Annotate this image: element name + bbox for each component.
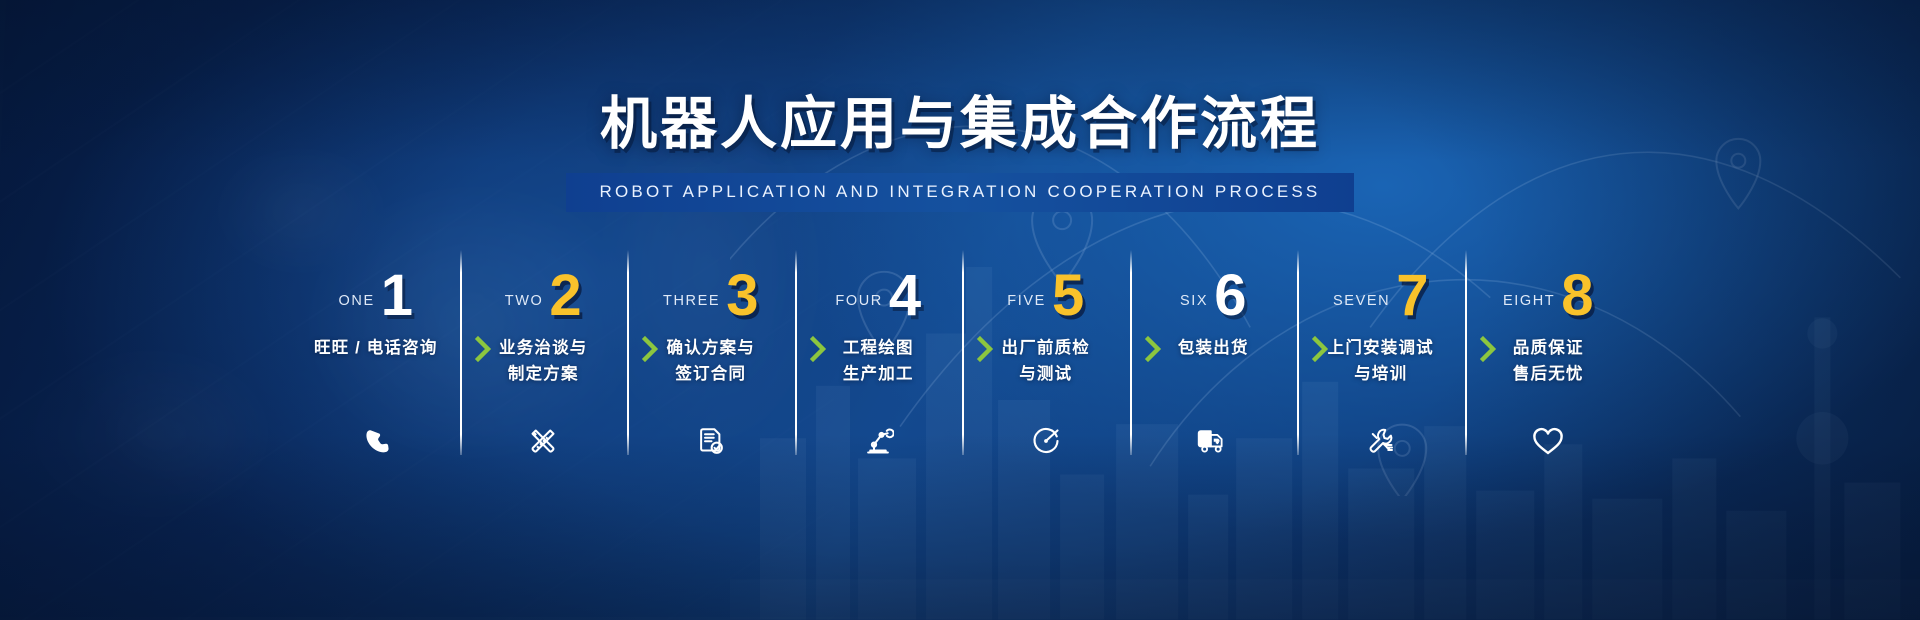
step-label-line: 上门安装调试 <box>1328 336 1434 362</box>
process-step-7[interactable]: SEVEN7上门安装调试与培训 <box>1297 250 1465 460</box>
step-label-line: 出厂前质检 <box>1002 336 1091 362</box>
step-number: 3 <box>726 270 758 322</box>
wrench-screwdriver-icon <box>1364 424 1398 458</box>
step-ordinal-word: FOUR <box>835 293 882 309</box>
chevron-right-icon <box>976 336 996 362</box>
step-label-line: 售后无忧 <box>1513 362 1584 388</box>
step-header: FIVE5 <box>962 250 1130 322</box>
step-label-line: 业务治谈与 <box>499 336 588 362</box>
step-label: 工程绘图生产加工 <box>843 336 914 387</box>
process-banner: 机器人应用与集成合作流程 ROBOT APPLICATION AND INTEG… <box>0 0 1920 620</box>
step-number: 1 <box>381 270 413 322</box>
step-header: THREE3 <box>627 250 795 322</box>
step-header: EIGHT8 <box>1465 250 1633 322</box>
robot-arm-icon <box>861 424 895 458</box>
document-check-icon <box>694 424 728 458</box>
delivery-truck-icon <box>1196 424 1230 458</box>
step-ordinal-word: FIVE <box>1007 293 1046 309</box>
subtitle-bar: ROBOT APPLICATION AND INTEGRATION COOPER… <box>566 173 1355 212</box>
chevron-right-icon <box>1479 336 1499 362</box>
chevron-right-icon <box>474 336 494 362</box>
process-step-8[interactable]: EIGHT8品质保证售后无忧 <box>1465 250 1633 460</box>
step-label: 出厂前质检与测试 <box>1002 336 1091 387</box>
step-ordinal-word: EIGHT <box>1503 293 1555 309</box>
heart-icon <box>1531 424 1565 458</box>
step-header: FOUR4 <box>795 250 963 322</box>
step-label-line: 包装出货 <box>1178 336 1249 362</box>
process-step-6[interactable]: SIX6包装出货 <box>1130 250 1298 460</box>
step-label: 包装出货 <box>1178 336 1249 362</box>
process-step-list: ONE1旺旺 / 电话咨询TWO2业务治谈与制定方案THREE3确认方案与签订合… <box>292 250 1632 460</box>
step-label-line: 与培训 <box>1328 362 1434 388</box>
step-header: SEVEN7 <box>1297 250 1465 322</box>
process-step-4[interactable]: FOUR4工程绘图生产加工 <box>795 250 963 460</box>
process-step-3[interactable]: THREE3确认方案与签订合同 <box>627 250 795 460</box>
step-header: TWO2 <box>460 250 628 322</box>
step-label-line: 生产加工 <box>843 362 914 388</box>
step-number: 4 <box>889 270 921 322</box>
step-label-line: 旺旺 / 电话咨询 <box>314 336 438 362</box>
step-label-line: 品质保证 <box>1513 336 1584 362</box>
step-label: 品质保证售后无忧 <box>1513 336 1584 387</box>
step-label-line: 制定方案 <box>499 362 588 388</box>
step-label: 业务治谈与制定方案 <box>499 336 588 387</box>
chevron-right-icon <box>809 336 829 362</box>
phone-icon <box>359 424 393 458</box>
page-title: 机器人应用与集成合作流程 <box>0 96 1920 153</box>
process-step-5[interactable]: FIVE5出厂前质检与测试 <box>962 250 1130 460</box>
banner-header: 机器人应用与集成合作流程 ROBOT APPLICATION AND INTEG… <box>0 96 1920 212</box>
step-number: 7 <box>1396 270 1428 322</box>
step-label: 旺旺 / 电话咨询 <box>314 336 438 362</box>
step-label-line: 工程绘图 <box>843 336 914 362</box>
step-number: 6 <box>1214 270 1246 322</box>
pencil-ruler-icon <box>526 424 560 458</box>
step-ordinal-word: SEVEN <box>1333 293 1390 309</box>
step-label-line: 签订合同 <box>667 362 756 388</box>
step-header: ONE1 <box>292 250 460 322</box>
step-label-line: 确认方案与 <box>667 336 756 362</box>
step-label: 确认方案与签订合同 <box>667 336 756 387</box>
chevron-right-icon <box>1144 336 1164 362</box>
step-number: 8 <box>1561 270 1593 322</box>
gauge-meter-icon <box>1029 424 1063 458</box>
step-ordinal-word: THREE <box>663 293 720 309</box>
step-ordinal-word: SIX <box>1180 293 1208 309</box>
subtitle-text: ROBOT APPLICATION AND INTEGRATION COOPER… <box>600 182 1321 201</box>
step-ordinal-word: TWO <box>505 293 544 309</box>
process-step-2[interactable]: TWO2业务治谈与制定方案 <box>460 250 628 460</box>
step-number: 5 <box>1052 270 1084 322</box>
chevron-right-icon <box>641 336 661 362</box>
chevron-right-icon <box>1311 336 1331 362</box>
step-ordinal-word: ONE <box>339 293 375 309</box>
step-header: SIX6 <box>1130 250 1298 322</box>
step-number: 2 <box>549 270 581 322</box>
step-label: 上门安装调试与培训 <box>1328 336 1434 387</box>
step-label-line: 与测试 <box>1002 362 1091 388</box>
process-step-1[interactable]: ONE1旺旺 / 电话咨询 <box>292 250 460 460</box>
